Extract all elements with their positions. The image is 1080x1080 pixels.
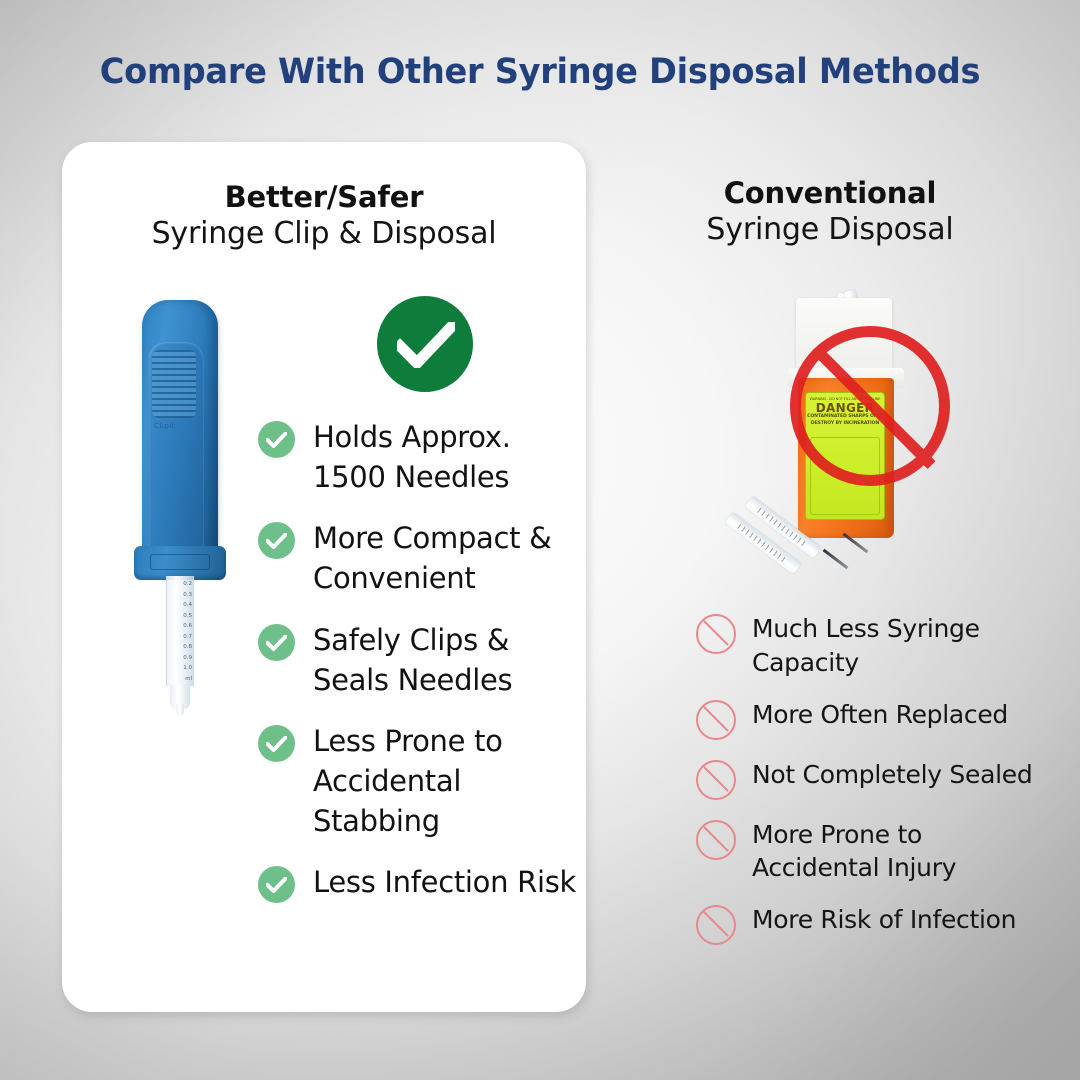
sharps-container-image: WARNING - DO NOT FILL ABOVE THIS LINE DA… [748,288,998,588]
right-column-heading: Conventional Syringe Disposal [600,176,1060,249]
prohibition-icon [696,820,736,860]
syringe-tick: 1.0 [183,666,192,672]
check-circle-icon [258,866,295,903]
check-mark-glyph [397,322,455,368]
list-item-label: More Risk of Infection [752,903,1016,937]
prohibition-icon [696,700,736,740]
syringe-tick: 0.4 [183,603,192,609]
syringe-tick: 0.3 [183,593,192,599]
list-item: More Prone to Accidental Injury [696,818,1056,886]
check-circle-icon [258,522,295,559]
left-heading-bold: Better/Safer [62,180,586,214]
clip-logo-text: Clipit [154,422,196,432]
list-item: Less Infection Risk [258,863,578,903]
check-circle-icon [258,725,295,762]
list-item-label: More Prone to Accidental Injury [752,818,1056,886]
list-item: Less Prone to Accidental Stabbing [258,722,578,841]
syringe-tick: ml [185,677,192,683]
blue-syringe-clip-image: Clipit 0.2 0.3 0.4 0.5 0.6 0.7 0.8 0.9 1… [128,300,232,710]
check-circle-icon [258,421,295,458]
right-heading-bold: Conventional [600,176,1060,210]
check-mark-glyph [266,432,287,448]
syringe-tick: 0.5 [183,614,192,620]
clip-base-notch [150,554,210,570]
advantages-list: Holds Approx. 1500 Needles More Compact … [258,418,578,925]
syringe-plunger-tip [170,684,190,710]
list-item-label: More Compact & Convenient [313,519,578,598]
clip-grip-ridges [152,350,196,418]
prohibition-icon [696,614,736,654]
list-item: Holds Approx. 1500 Needles [258,418,578,497]
list-item-label: Less Infection Risk [313,863,576,903]
prohibition-icon [790,326,950,486]
check-circle-icon [377,296,473,392]
check-circle-icon [258,624,295,661]
needle-tip [823,549,849,569]
list-item: Safely Clips & Seals Needles [258,621,578,700]
prohibition-icon [696,760,736,800]
syringe-tick: 0.6 [183,624,192,630]
list-item: Not Completely Sealed [696,758,1056,800]
syringe-scale-markings: 0.2 0.3 0.4 0.5 0.6 0.7 0.8 0.9 1.0 ml [166,582,194,682]
list-item: More Often Replaced [696,698,1056,740]
syringe-tick: 0.9 [183,656,192,662]
left-heading-regular: Syringe Clip & Disposal [62,214,586,253]
list-item: More Compact & Convenient [258,519,578,598]
list-item-label: Not Completely Sealed [752,758,1032,792]
page-title: Compare With Other Syringe Disposal Meth… [22,52,1059,92]
list-item-label: Safely Clips & Seals Needles [313,621,578,700]
syringe-tick: 0.8 [183,645,192,651]
disadvantages-list: Much Less Syringe Capacity More Often Re… [696,612,1056,963]
list-item-label: Holds Approx. 1500 Needles [313,418,578,497]
check-mark-glyph [266,736,287,752]
right-heading-regular: Syringe Disposal [600,210,1060,249]
prohibition-icon [696,905,736,945]
syringe-tick: 0.2 [183,582,192,588]
check-mark-glyph [266,877,287,893]
check-mark-glyph [266,533,287,549]
list-item-label: Much Less Syringe Capacity [752,612,1056,680]
left-column-heading: Better/Safer Syringe Clip & Disposal [62,180,586,253]
list-item-label: More Often Replaced [752,698,1008,732]
list-item: More Risk of Infection [696,903,1056,945]
syringe-tick: 0.7 [183,635,192,641]
list-item: Much Less Syringe Capacity [696,612,1056,680]
check-mark-glyph [266,635,287,651]
list-item-label: Less Prone to Accidental Stabbing [313,722,578,841]
